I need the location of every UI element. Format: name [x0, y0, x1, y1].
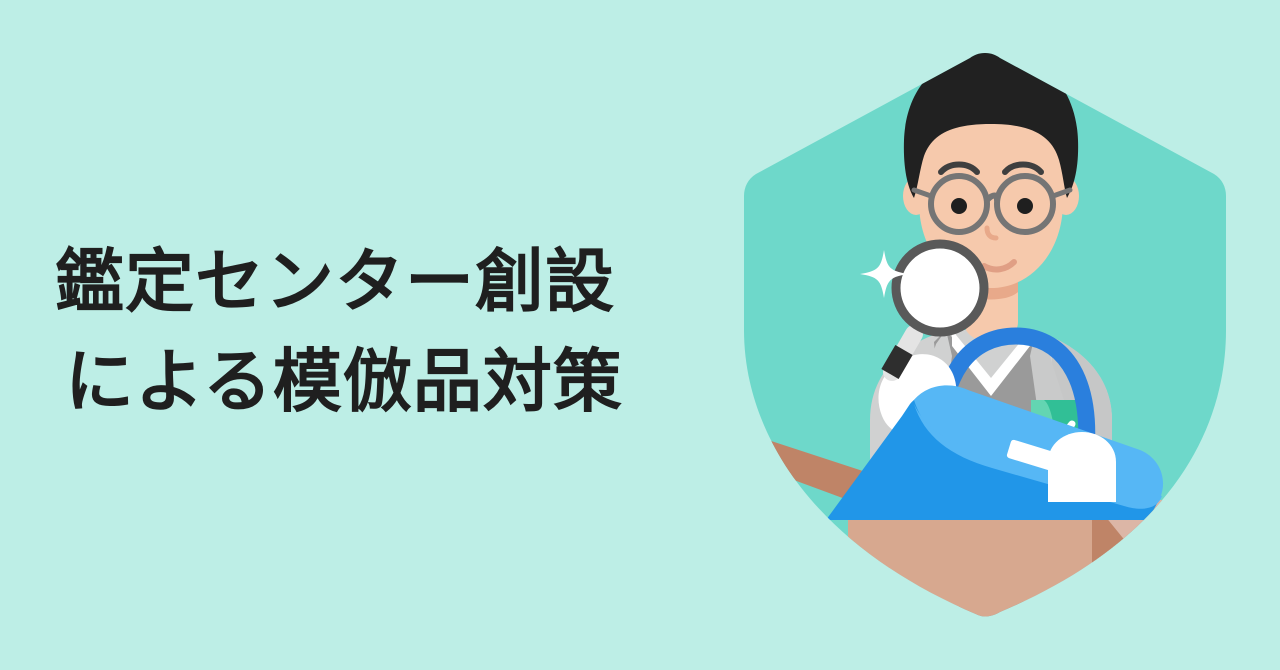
page-title-line-1: 鑑定センター創設 — [55, 232, 675, 332]
page-title-line-2: による模倣品対策 — [55, 332, 675, 432]
magnifier-grip — [890, 350, 904, 374]
slide-canvas: 鑑定センター創設 による模倣品対策 — [0, 0, 1280, 670]
magnifier-lens — [896, 244, 984, 332]
eye-right — [1017, 198, 1033, 214]
eye-left — [951, 198, 967, 214]
page-title: 鑑定センター創設 による模倣品対策 — [55, 232, 675, 432]
glove-right — [1048, 432, 1116, 502]
box-front — [848, 500, 1092, 670]
appraisal-inspector-illustration — [700, 0, 1280, 670]
